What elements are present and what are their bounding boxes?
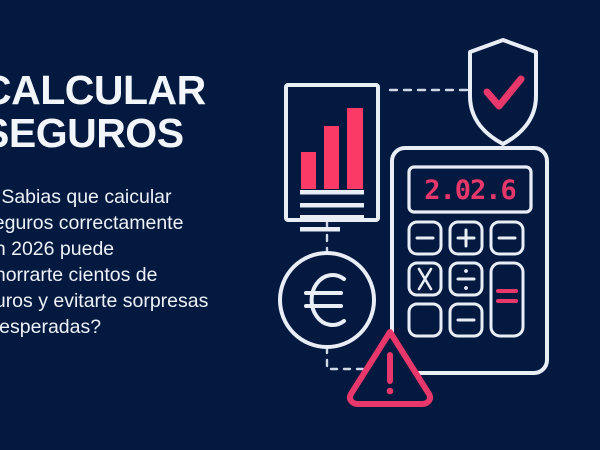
doc-text-line <box>300 215 364 220</box>
divide-key-dot <box>464 269 468 273</box>
promo-banner: CALCULAR SEGUROS ¿ Sabias que caicular s… <box>0 0 600 450</box>
exclamation-dot-icon <box>387 388 394 395</box>
doc-text-line <box>300 190 364 195</box>
euro-coin-icon <box>280 253 374 347</box>
dashed-euro-to-warning-icon <box>327 347 368 369</box>
document-chart-icon <box>286 85 378 232</box>
divide-key-dot <box>464 286 468 290</box>
shield-check-icon <box>470 40 536 144</box>
doc-bar-2 <box>324 126 339 189</box>
illustration: 2.02.6 <box>0 0 600 450</box>
calculator-icon: 2.02.6 <box>392 148 547 373</box>
check-mark-icon <box>487 79 521 106</box>
calculator-display-value: 2.02.6 <box>424 175 516 206</box>
doc-bar-1 <box>301 152 316 189</box>
doc-text-line <box>300 203 364 208</box>
doc-text-line <box>300 227 340 232</box>
doc-bar-3 <box>347 108 363 189</box>
